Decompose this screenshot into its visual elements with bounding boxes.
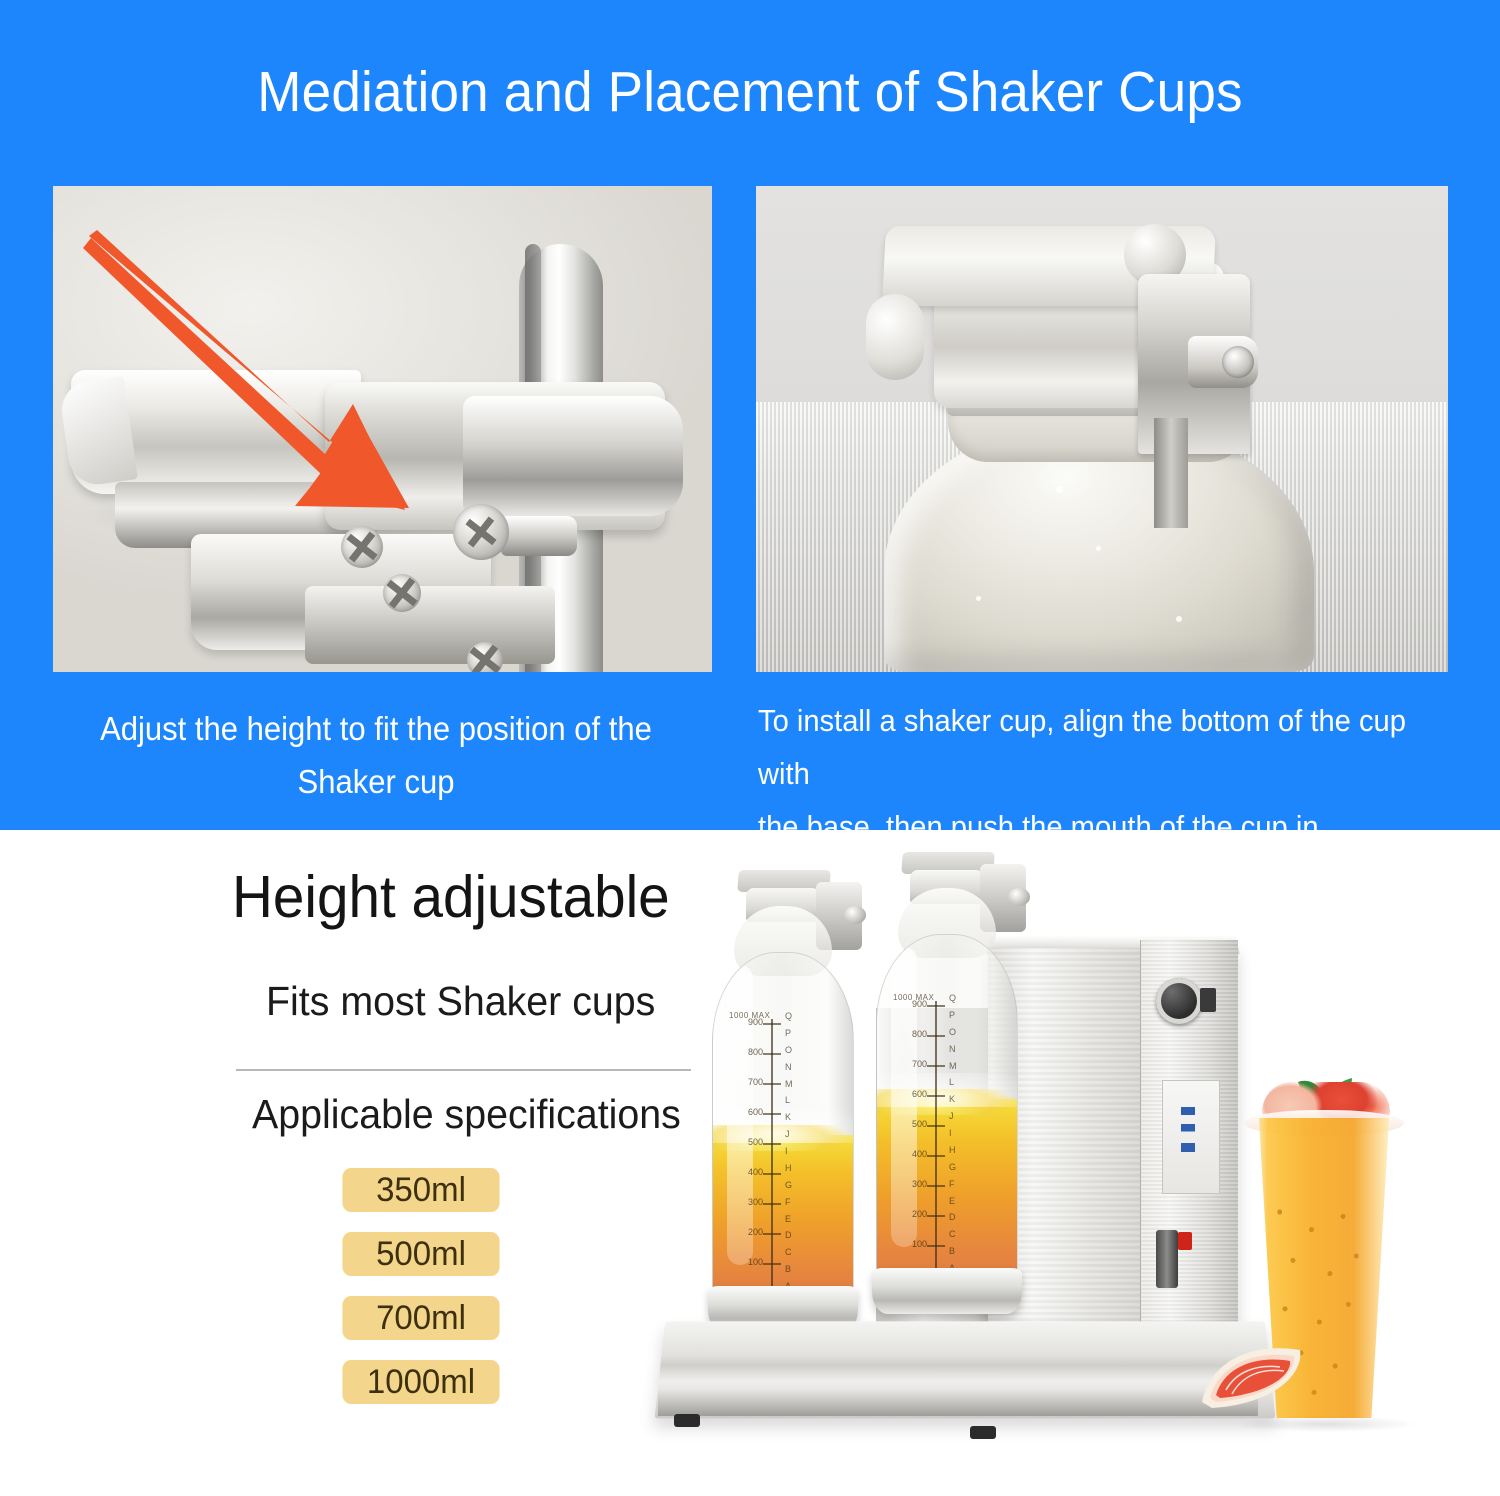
spec-badge-700ml: 700ml xyxy=(342,1296,499,1340)
scale-letter: J xyxy=(785,1129,790,1139)
scale-tick xyxy=(763,1203,781,1205)
scale-tick xyxy=(927,1125,945,1127)
knob-tab-icon xyxy=(1200,988,1216,1012)
scale-letter: B xyxy=(785,1264,791,1274)
scale-letter: Q xyxy=(785,1011,792,1021)
scale-letter: O xyxy=(949,1027,956,1037)
scale-number: 400 xyxy=(912,1149,927,1159)
shaker-cup-left: 1000 MAX 900800700600500400300200100QPON… xyxy=(712,888,854,1328)
spec-badge-500ml: 500ml xyxy=(342,1232,499,1276)
cup-clamp-screw-icon xyxy=(844,906,866,924)
scale-number: 300 xyxy=(912,1179,927,1189)
timer-knob-icon xyxy=(1156,978,1202,1024)
scale-letter: O xyxy=(785,1045,792,1055)
scale-tick xyxy=(763,1113,781,1115)
scale-number: 400 xyxy=(748,1167,763,1177)
scale-letter: N xyxy=(785,1062,792,1072)
scale-number: 200 xyxy=(912,1209,927,1219)
scale-letter: H xyxy=(949,1145,956,1155)
scale-tick xyxy=(763,1083,781,1085)
grapefruit-wedge-icon xyxy=(1196,1340,1314,1410)
caption-right-line1: To install a shaker cup, align the botto… xyxy=(758,694,1454,800)
scale-letter: K xyxy=(785,1112,791,1122)
scale-number: 600 xyxy=(748,1107,763,1117)
scale-tick xyxy=(763,1023,781,1025)
power-switch xyxy=(1156,1230,1178,1288)
scale-tick xyxy=(927,1215,945,1217)
scale-letter: D xyxy=(785,1230,792,1240)
scale-letter: D xyxy=(949,1212,956,1222)
scale-letter: C xyxy=(785,1247,792,1257)
divider xyxy=(236,1069,691,1071)
power-switch-indicator xyxy=(1178,1232,1192,1250)
scale-letter: B xyxy=(949,1246,955,1256)
scale-letter: G xyxy=(785,1180,792,1190)
scale-letter: P xyxy=(785,1028,791,1038)
scale-tick xyxy=(763,1233,781,1235)
drink-shadow xyxy=(1236,1416,1416,1432)
scale-tick xyxy=(763,1053,781,1055)
scale-letter: F xyxy=(949,1179,955,1189)
scale-number: 100 xyxy=(748,1257,763,1267)
scale-letter: E xyxy=(785,1214,791,1224)
scale-number: 600 xyxy=(912,1089,927,1099)
scale-letter: M xyxy=(785,1079,793,1089)
scale-tick xyxy=(927,1245,945,1247)
machine-base-edge xyxy=(658,1390,1258,1416)
scale-letter: C xyxy=(949,1229,956,1239)
water-droplet xyxy=(1056,486,1063,493)
cup-shell: 1000 MAX 900800700600500400300200100QPON… xyxy=(876,934,1018,1286)
scale-letter: J xyxy=(949,1111,954,1121)
cup-clamp-screw-icon xyxy=(1008,888,1030,906)
scale-number: 900 xyxy=(912,999,927,1009)
finished-drink-photo xyxy=(1196,1080,1496,1460)
top-blue-panel: Mediation and Placement of Shaker Cups xyxy=(0,0,1500,830)
scale-number: 800 xyxy=(748,1047,763,1057)
scale-letter: F xyxy=(785,1197,791,1207)
section-title: Height adjustable xyxy=(232,863,670,931)
scale-letter: L xyxy=(785,1095,790,1105)
section-subtitle: Fits most Shaker cups xyxy=(266,976,655,1026)
cap-side-knob-icon xyxy=(866,294,924,380)
scale-letter: I xyxy=(949,1128,952,1138)
spec-badge-350ml: 350ml xyxy=(342,1168,499,1212)
scale-letter: L xyxy=(949,1077,954,1087)
scale-number: 900 xyxy=(748,1017,763,1027)
scale-letter: P xyxy=(949,1010,955,1020)
scale-letter: H xyxy=(785,1163,792,1173)
clamp-screw-icon xyxy=(1188,336,1258,388)
scale-letter: M xyxy=(949,1061,957,1071)
scale-number: 700 xyxy=(748,1077,763,1087)
scale-letter: N xyxy=(949,1044,956,1054)
water-droplet xyxy=(976,596,981,601)
scale-number: 500 xyxy=(912,1119,927,1129)
scale-number: 800 xyxy=(912,1029,927,1039)
scale-number: 500 xyxy=(748,1137,763,1147)
scale-tick xyxy=(763,1143,781,1145)
cup-base-ring xyxy=(872,1268,1022,1314)
page-title: Mediation and Placement of Shaker Cups xyxy=(53,58,1448,126)
caption-left: Adjust the height to fit the position of… xyxy=(47,702,705,808)
cup-shell: 1000 MAX 900800700600500400300200100QPON… xyxy=(712,952,854,1304)
water-droplet xyxy=(1096,546,1101,551)
scale-tick xyxy=(763,1173,781,1175)
scale-tick xyxy=(927,1005,945,1007)
spec-badge-1000ml: 1000ml xyxy=(342,1360,499,1404)
machine-foot xyxy=(970,1426,996,1439)
scale-tick xyxy=(927,1065,945,1067)
shaker-cup-right: 1000 MAX 900800700600500400300200100QPON… xyxy=(876,870,1018,1310)
scale-letter: E xyxy=(949,1196,955,1206)
shaker-cup-install-photo xyxy=(756,186,1448,672)
water-droplet xyxy=(1176,616,1182,622)
scale-tick xyxy=(927,1155,945,1157)
spec-badge-list: 350ml 500ml 700ml 1000ml xyxy=(340,1168,502,1424)
scale-letter: G xyxy=(949,1162,956,1172)
scale-tick xyxy=(927,1035,945,1037)
cup-scale-line xyxy=(935,1001,937,1273)
scale-number: 300 xyxy=(748,1197,763,1207)
scale-letter: K xyxy=(949,1094,955,1104)
scale-number: 700 xyxy=(912,1059,927,1069)
scale-number: 100 xyxy=(912,1239,927,1249)
cup-clamp-arm xyxy=(1154,418,1188,528)
clamp-bracket-photo xyxy=(53,186,712,672)
scale-letter: Q xyxy=(949,993,956,1003)
cup-scale-line xyxy=(771,1019,773,1291)
orange-arrow-icon xyxy=(53,186,712,672)
scale-tick xyxy=(927,1185,945,1187)
machine-foot xyxy=(674,1414,700,1427)
scale-number: 200 xyxy=(748,1227,763,1237)
scale-tick xyxy=(927,1095,945,1097)
scale-tick xyxy=(763,1263,781,1265)
scale-letter: I xyxy=(785,1146,788,1156)
spec-heading: Applicable specifications xyxy=(252,1089,681,1139)
